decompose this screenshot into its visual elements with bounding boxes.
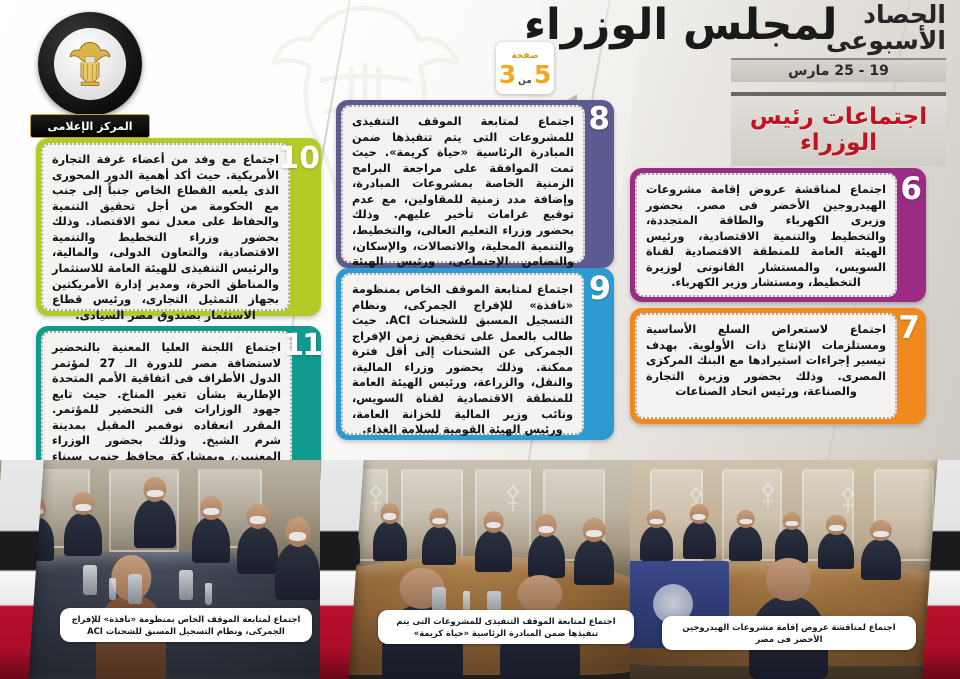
logo-banner-text: المركز الإعلامى <box>47 120 132 133</box>
logo-inner-disc <box>54 28 126 100</box>
date-range-bar: 19 - 25 مارس <box>731 58 946 82</box>
photo-hayah-karima-meeting <box>320 460 630 679</box>
card-number-10: 10 <box>278 144 320 174</box>
news-card-9-body: اجتماع لمتابعة الموقف الخاص بمنظومة «ناف… <box>341 273 584 435</box>
logo-seal-icon <box>38 12 142 116</box>
card-number-8: 8 <box>588 104 610 135</box>
photo-caption-3: اجتماع لمناقشة عروض إقامة مشروعات الهيدر… <box>662 616 916 650</box>
news-card-8-body: اجتماع لمتابعة الموقف التنفيذى للمشروعات… <box>341 105 585 263</box>
news-card-6-body: اجتماع لمناقشة عروض إقامة مشروعات الهيدر… <box>635 173 897 297</box>
news-card-10-body: اجتماع مع وفد من أعضاء غرفة التجارة الأم… <box>41 143 290 311</box>
date-range-text: 19 - 25 مارس <box>788 63 889 79</box>
news-card-7-body: اجتماع لاستعراض السلع الأساسية ومستلزمات… <box>635 313 897 419</box>
title-subtitle-block: الحصاد الأسبوعى <box>761 2 946 55</box>
news-card-7: 7 اجتماع لاستعراض السلع الأساسية ومستلزم… <box>630 308 926 424</box>
section-header-text: اجتماعات رئيس الوزراء <box>731 105 946 157</box>
cabinet-logo: المركز الإعلامى <box>30 8 150 140</box>
photo-caption-2-text: اجتماع لمتابعة الموقف التنفيذى للمشروعات… <box>387 615 625 639</box>
news-card-8: 8 اجتماع لمتابعة الموقف التنفيذى للمشروع… <box>336 100 614 268</box>
photo2-scene <box>320 460 630 679</box>
photo-caption-1: اجتماع لمتابعة الموقف الخاص بمنظومة «ناف… <box>60 608 312 642</box>
page-badge-current: 3 <box>499 62 516 87</box>
page-badge-of: من <box>518 76 532 86</box>
page-indicator-badge: صفحة 5 من 3 <box>496 42 554 94</box>
news-card-8-text: اجتماع لمتابعة الموقف التنفيذى للمشروعات… <box>352 114 574 285</box>
news-card-10: 10 اجتماع مع وفد من أعضاء غرفة التجارة ا… <box>36 138 321 316</box>
news-card-7-text: اجتماع لاستعراض السلع الأساسية ومستلزمات… <box>646 322 886 400</box>
news-card-11: 11 اجتماع اللجنة العليا المعنية بالتحضير… <box>36 326 321 460</box>
photo-caption-1-text: اجتماع لمتابعة الموقف الخاص بمنظومة «ناف… <box>69 613 303 637</box>
photo-caption-3-text: اجتماع لمناقشة عروض إقامة مشروعات الهيدر… <box>671 621 907 645</box>
news-card-6-text: اجتماع لمناقشة عروض إقامة مشروعات الهيدر… <box>646 182 886 291</box>
news-card-11-text: اجتماع اللجنة العليا المعنية بالتحضير لا… <box>52 340 281 460</box>
card-number-7: 7 <box>898 313 920 344</box>
news-card-9: 9 اجتماع لمتابعة الموقف الخاص بمنظومة «ن… <box>336 268 614 440</box>
page-badge-total: 5 <box>534 62 551 87</box>
news-card-10-text: اجتماع مع وفد من أعضاء غرفة التجارة الأم… <box>52 152 279 323</box>
card-number-9: 9 <box>589 272 611 304</box>
header-banner: المركز الإعلامى لمجلس الوزراء الحصاد الأ… <box>0 0 960 460</box>
page-badge-numbers: 5 من 3 <box>499 62 551 87</box>
logo-ring <box>54 28 126 100</box>
card-number-6: 6 <box>900 174 922 205</box>
section-header: اجتماعات رئيس الوزراء <box>731 92 946 166</box>
news-card-11-body: اجتماع اللجنة العليا المعنية بالتحضير لا… <box>41 331 292 460</box>
logo-banner-label: المركز الإعلامى <box>30 114 150 138</box>
title-sub-line1: الحصاد <box>761 2 946 28</box>
news-card-6: 6 اجتماع لمناقشة عروض إقامة مشروعات الهي… <box>630 168 926 302</box>
infographic-page: المركز الإعلامى لمجلس الوزراء الحصاد الأ… <box>0 0 960 679</box>
photo-caption-2: اجتماع لمتابعة الموقف التنفيذى للمشروعات… <box>378 610 634 644</box>
photo3-scene <box>0 460 320 679</box>
title-sub-line2: الأسبوعى <box>761 28 946 54</box>
card-number-11: 11 <box>283 331 321 361</box>
photo-green-hydrogen-meeting <box>0 460 320 679</box>
news-card-9-text: اجتماع لمتابعة الموقف الخاص بمنظومة «ناف… <box>352 282 573 438</box>
